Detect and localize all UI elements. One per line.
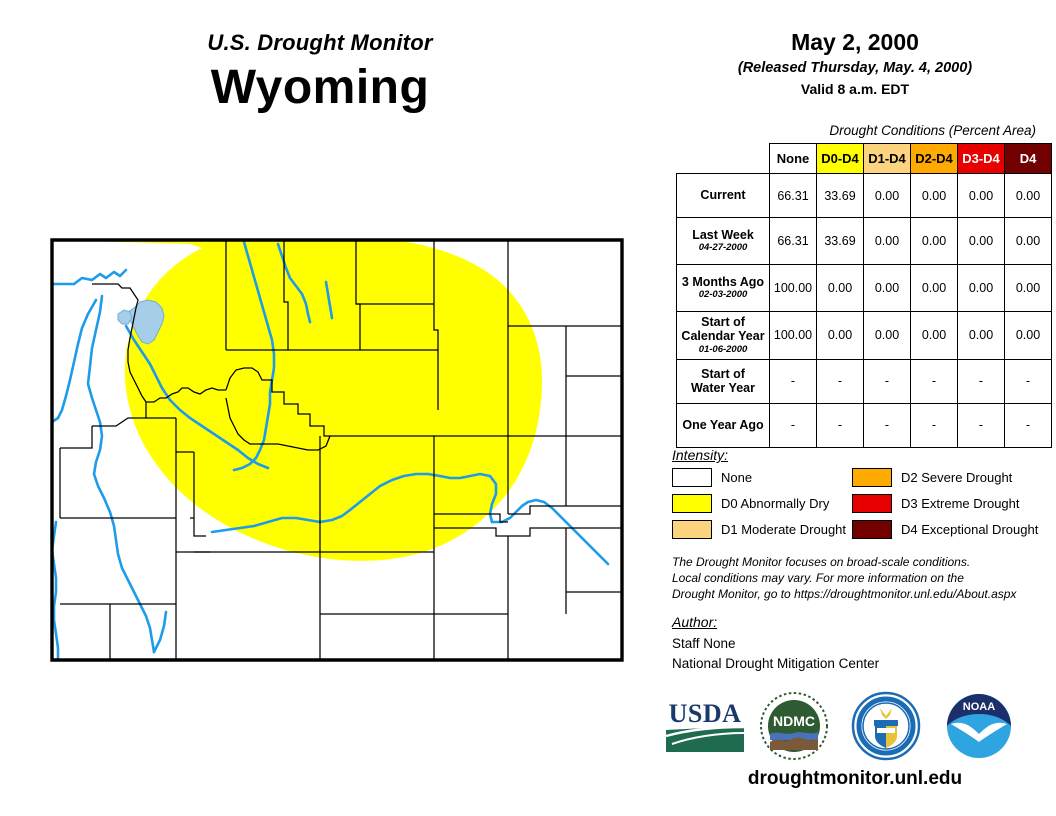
table-cell: 0.00 — [958, 312, 1005, 360]
table-cell: 0.00 — [1005, 265, 1052, 312]
table-cell: 0.00 — [911, 312, 958, 360]
table-cell: 0.00 — [864, 265, 911, 312]
drought-conditions-table: NoneD0-D4D1-D4D2-D4D3-D4D4 Current66.313… — [676, 143, 1052, 448]
table-col-header-d3-d4: D3-D4 — [958, 144, 1005, 174]
table-cell: 100.00 — [770, 265, 817, 312]
ndmc-logo: NDMC — [758, 690, 830, 762]
legend-swatch — [672, 520, 712, 539]
table-row: Last Week04-27-200066.3133.690.000.000.0… — [677, 218, 1052, 265]
table-row: Start ofCalendar Year01-06-2000100.000.0… — [677, 312, 1052, 360]
table-cell: - — [958, 359, 1005, 403]
table-cell: 33.69 — [817, 174, 864, 218]
row-label: Last Week04-27-2000 — [677, 218, 770, 265]
svg-text:NOAA: NOAA — [963, 701, 995, 713]
table-cell: 0.00 — [911, 218, 958, 265]
table-cell: - — [770, 403, 817, 447]
release-date: (Released Thursday, May. 4, 2000) — [660, 60, 1050, 76]
legend-item: D1 Moderate Drought — [672, 520, 852, 539]
svg-text:NDMC: NDMC — [773, 713, 815, 729]
table-cell: 100.00 — [770, 312, 817, 360]
table-cell: 0.00 — [911, 265, 958, 312]
legend-item: D0 Abnormally Dry — [672, 494, 852, 513]
legend-item: D4 Exceptional Drought — [852, 520, 1042, 539]
table-row: 3 Months Ago02-03-2000100.000.000.000.00… — [677, 265, 1052, 312]
table-col-header-d1-d4: D1-D4 — [864, 144, 911, 174]
intensity-legend: NoneD2 Severe DroughtD0 Abnormally DryD3… — [672, 468, 1042, 539]
table-cell: - — [817, 359, 864, 403]
row-label: Start ofCalendar Year01-06-2000 — [677, 312, 770, 360]
table-cell: - — [911, 403, 958, 447]
table-cell: 0.00 — [864, 174, 911, 218]
legend-label: None — [721, 470, 752, 485]
author-org: National Drought Mitigation Center — [672, 654, 879, 674]
table-col-header-d0-d4: D0-D4 — [817, 144, 864, 174]
report-header: May 2, 2000 (Released Thursday, May. 4, … — [660, 30, 1050, 97]
legend-item: None — [672, 468, 852, 487]
website-url: droughtmonitor.unl.edu — [660, 768, 1050, 790]
table-cell: - — [958, 403, 1005, 447]
noaa-logo: NOAA — [943, 690, 1015, 762]
table-caption: Drought Conditions (Percent Area) — [660, 123, 1036, 138]
table-header-row: NoneD0-D4D1-D4D2-D4D3-D4D4 — [677, 144, 1052, 174]
disclaimer-note: The Drought Monitor focuses on broad-sca… — [672, 554, 1044, 603]
legend-label: D1 Moderate Drought — [721, 522, 846, 537]
table-corner-cell — [677, 144, 770, 174]
legend-label: D0 Abnormally Dry — [721, 496, 829, 511]
table-cell: 0.00 — [958, 174, 1005, 218]
row-label: Start ofWater Year — [677, 359, 770, 403]
note-line-1: The Drought Monitor focuses on broad-sca… — [672, 554, 1044, 570]
table-cell: 0.00 — [817, 312, 864, 360]
table-cell: - — [770, 359, 817, 403]
row-subdate: 01-06-2000 — [679, 345, 767, 356]
table-cell: - — [911, 359, 958, 403]
table-col-header-none: None — [770, 144, 817, 174]
table-cell: - — [864, 359, 911, 403]
row-label: Current — [677, 174, 770, 218]
table-cell: 0.00 — [864, 312, 911, 360]
legend-swatch — [852, 494, 892, 513]
table-col-header-d4: D4 — [1005, 144, 1052, 174]
program-title: U.S. Drought Monitor — [0, 30, 640, 56]
author-label: Author: — [672, 614, 717, 630]
legend-swatch — [852, 468, 892, 487]
legend-item: D2 Severe Drought — [852, 468, 1042, 487]
table-cell: 0.00 — [1005, 218, 1052, 265]
table-col-header-d2-d4: D2-D4 — [911, 144, 958, 174]
page-title: Wyoming — [0, 60, 640, 115]
table-cell: 0.00 — [911, 174, 958, 218]
table-cell: - — [817, 403, 864, 447]
intensity-legend-title: Intensity: — [672, 447, 728, 463]
table-cell: - — [1005, 403, 1052, 447]
table-cell: 66.31 — [770, 218, 817, 265]
report-date: May 2, 2000 — [660, 30, 1050, 55]
row-label: One Year Ago — [677, 403, 770, 447]
legend-swatch — [672, 468, 712, 487]
table-cell: - — [864, 403, 911, 447]
legend-swatch — [672, 494, 712, 513]
row-label: 3 Months Ago02-03-2000 — [677, 265, 770, 312]
table-cell: 0.00 — [958, 265, 1005, 312]
table-body: Current66.3133.690.000.000.000.00Last We… — [677, 174, 1052, 448]
table-cell: 0.00 — [864, 218, 911, 265]
row-subdate: 02-03-2000 — [679, 290, 767, 301]
legend-item: D3 Extreme Drought — [852, 494, 1042, 513]
legend-label: D2 Severe Drought — [901, 470, 1012, 485]
table-row: Start ofWater Year------ — [677, 359, 1052, 403]
table-cell: 0.00 — [1005, 312, 1052, 360]
usda-logo: USDA — [664, 696, 746, 754]
table-cell: 0.00 — [817, 265, 864, 312]
note-line-2: Local conditions may vary. For more info… — [672, 570, 1044, 586]
row-subdate: 04-27-2000 — [679, 243, 767, 254]
author-name: Staff None — [672, 634, 879, 654]
note-line-3: Drought Monitor, go to https://droughtmo… — [672, 586, 1044, 602]
agency-logos: USDA NDMC NOAA — [660, 688, 1050, 766]
table-row: Current66.3133.690.000.000.000.00 — [677, 174, 1052, 218]
valid-time: Valid 8 a.m. EDT — [660, 81, 1050, 97]
table-row: One Year Ago------ — [677, 403, 1052, 447]
author-block: Staff None National Drought Mitigation C… — [672, 634, 879, 673]
table-cell: 33.69 — [817, 218, 864, 265]
usdc-seal-logo — [850, 690, 922, 762]
svg-text:USDA: USDA — [669, 699, 742, 728]
wyoming-drought-map — [30, 222, 630, 677]
legend-swatch — [852, 520, 892, 539]
legend-label: D4 Exceptional Drought — [901, 522, 1038, 537]
table-cell: 66.31 — [770, 174, 817, 218]
legend-label: D3 Extreme Drought — [901, 496, 1020, 511]
table-cell: - — [1005, 359, 1052, 403]
table-cell: 0.00 — [1005, 174, 1052, 218]
table-cell: 0.00 — [958, 218, 1005, 265]
